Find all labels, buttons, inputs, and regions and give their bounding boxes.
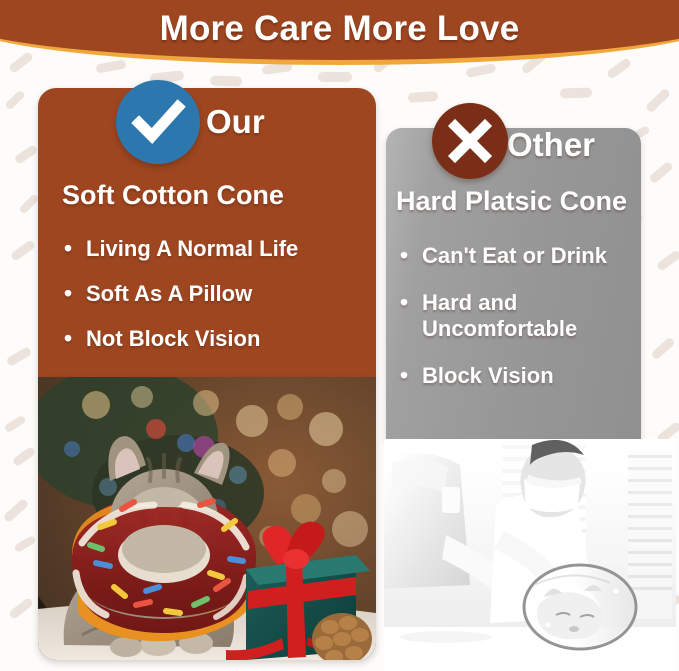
other-benefit-list: Can't Eat or Drink Hard and Uncomfortabl… — [400, 243, 665, 410]
sprinkle-dash — [95, 59, 126, 73]
sprinkle-dash — [14, 144, 39, 165]
sprinkle-dash — [318, 72, 352, 82]
check-icon — [130, 94, 186, 150]
sprinkle-dash — [3, 498, 30, 523]
vet-clinic-illustration — [384, 439, 676, 671]
comparison-panel-other: Other Hard Platsic Cone Can't Eat or Dri… — [386, 128, 641, 671]
sprinkle-dash — [10, 239, 36, 262]
list-item: Living A Normal Life — [64, 236, 394, 262]
sprinkle-dash — [12, 446, 37, 467]
our-heading: Our — [206, 103, 265, 141]
sprinkle-dash — [4, 415, 27, 433]
list-item: Can't Eat or Drink — [400, 243, 665, 269]
cross-badge — [432, 103, 508, 179]
comparison-panel-our — [38, 88, 376, 660]
sprinkle-dash — [18, 193, 39, 214]
sprinkle-dash — [560, 87, 592, 98]
sprinkle-dash — [465, 63, 496, 78]
check-badge — [116, 80, 200, 164]
our-product-photo — [38, 377, 376, 660]
sprinkle-dash — [645, 88, 671, 114]
our-benefit-list: Living A Normal Life Soft As A Pillow No… — [64, 236, 394, 371]
our-subheading: Soft Cotton Cone — [62, 180, 284, 211]
cat-donut-cone-illustration — [38, 377, 376, 660]
sprinkle-dash — [5, 346, 32, 367]
list-item: Hard and Uncomfortable — [400, 290, 665, 342]
sprinkle-dash — [210, 75, 242, 86]
sprinkle-dash — [408, 91, 439, 103]
other-heading: Other — [507, 126, 595, 164]
other-product-photo — [384, 439, 676, 671]
sprinkle-dash — [8, 597, 34, 620]
list-item: Not Block Vision — [64, 326, 394, 352]
infographic-canvas: More Care More Love — [0, 0, 679, 671]
page-title: More Care More Love — [0, 0, 679, 58]
cross-icon — [447, 118, 493, 164]
list-item: Block Vision — [400, 363, 665, 389]
sprinkle-dash — [4, 89, 25, 110]
sprinkle-dash — [606, 57, 632, 80]
list-item: Soft As A Pillow — [64, 281, 394, 307]
other-subheading: Hard Platsic Cone — [396, 186, 627, 217]
sprinkle-dash — [648, 161, 674, 185]
sprinkle-dash — [13, 535, 36, 553]
